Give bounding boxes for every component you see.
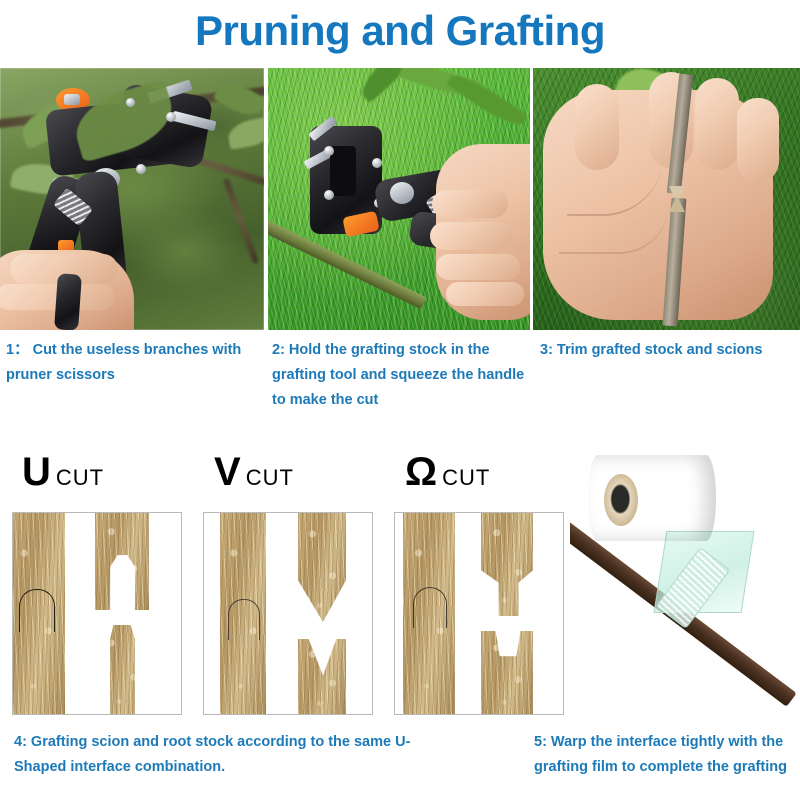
finger bbox=[432, 190, 508, 218]
bark-tongue-piece bbox=[95, 625, 149, 715]
u-cut-marking bbox=[19, 589, 55, 632]
finger bbox=[436, 254, 520, 280]
infographic-page: Pruning and Grafting bbox=[0, 0, 800, 800]
tool-cutting-channel bbox=[330, 146, 356, 196]
finger bbox=[446, 282, 524, 306]
bark-scion-piece bbox=[298, 512, 346, 622]
caption-step-1: 1： Cut the useless branches with pruner … bbox=[6, 338, 264, 388]
screw-icon bbox=[372, 158, 382, 168]
screw-icon bbox=[324, 190, 334, 200]
cut-word-u: CUT bbox=[56, 465, 104, 490]
photo-step-3 bbox=[533, 68, 800, 330]
cut-word-v: CUT bbox=[246, 465, 294, 490]
wood-sample-omega-cut bbox=[394, 512, 564, 715]
bark-socket-piece bbox=[298, 639, 346, 715]
cut-label-omega: ΩCUT bbox=[405, 452, 490, 492]
bark-omega-tongue bbox=[481, 512, 533, 616]
omega-cut-marking bbox=[413, 587, 447, 628]
screw-icon bbox=[126, 98, 135, 107]
screw-icon bbox=[166, 112, 176, 122]
cut-label-v: VCUT bbox=[214, 452, 294, 492]
grafting-film-roll bbox=[588, 455, 716, 541]
finger bbox=[695, 78, 739, 170]
v-cut-marking bbox=[228, 599, 260, 640]
cut-glyph-u: U bbox=[22, 450, 51, 494]
tool-pivot bbox=[390, 182, 414, 204]
cut-word-omega: CUT bbox=[442, 465, 490, 490]
tool-bolt bbox=[64, 94, 80, 105]
page-title: Pruning and Grafting bbox=[0, 2, 800, 60]
screw-icon bbox=[324, 146, 334, 156]
finger bbox=[737, 98, 779, 182]
caption-step-4: 4: Grafting scion and root stock accordi… bbox=[14, 730, 414, 780]
wood-sample-u-cut bbox=[12, 512, 182, 715]
cut-label-u: UCUT bbox=[22, 452, 104, 492]
screw-icon bbox=[136, 164, 146, 174]
film-roll-core bbox=[604, 474, 638, 526]
cut-glyph-omega: Ω bbox=[405, 450, 437, 494]
caption-step-5: 5: Warp the interface tightly with the g… bbox=[534, 730, 800, 780]
bark-omega-socket bbox=[481, 631, 533, 715]
photo-row-top bbox=[0, 68, 800, 330]
tool-handle-tip bbox=[54, 273, 82, 330]
cut-glyph-v: V bbox=[214, 450, 241, 494]
photo-step-2 bbox=[268, 68, 530, 330]
caption-step-2: 2: Hold the grafting stock in the grafti… bbox=[272, 338, 530, 413]
photo-step-5 bbox=[570, 443, 800, 721]
wood-sample-v-cut bbox=[203, 512, 373, 715]
bark-socket-piece bbox=[95, 512, 149, 610]
finger bbox=[430, 222, 512, 250]
photo-step-1 bbox=[0, 68, 264, 330]
caption-step-3: 3: Trim grafted stock and scions bbox=[540, 338, 800, 363]
